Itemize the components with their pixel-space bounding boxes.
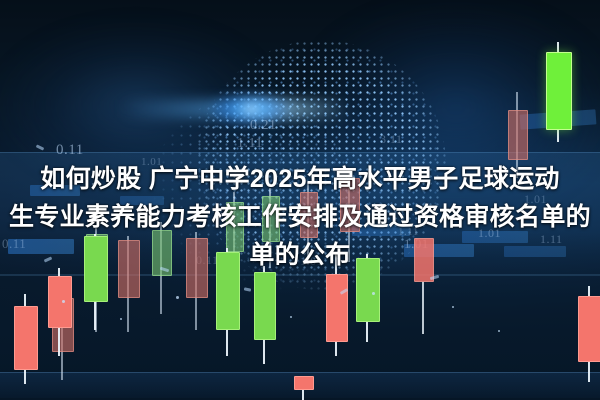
particle	[62, 300, 65, 303]
banner-image: 0.11 0.21 1.11 3.11 1.01 1.01 1.01 1.11 …	[0, 0, 600, 400]
floating-number: 1.11	[237, 136, 263, 152]
floating-number: 0.11	[56, 142, 84, 159]
candle-body	[14, 306, 38, 370]
headline-line-2: 生专业素养能力考核工作安排及通过资格审核名单的	[0, 198, 600, 236]
candlestick	[254, 266, 274, 364]
candle-body	[578, 296, 600, 362]
particle	[176, 296, 179, 299]
candle-body	[294, 376, 314, 390]
candlestick	[14, 294, 36, 384]
particle	[120, 318, 122, 320]
lower-band-line	[0, 372, 600, 373]
candle-body	[546, 52, 572, 130]
candlestick	[546, 42, 570, 142]
particle	[290, 316, 292, 318]
candlestick	[578, 286, 600, 382]
headline-line-3: 单的公布	[0, 236, 600, 274]
particle	[452, 306, 454, 308]
floating-number: 0.21	[250, 118, 277, 134]
candle-body	[48, 276, 72, 328]
particle	[498, 330, 500, 332]
particle	[372, 292, 375, 295]
headline-line-1: 如何炒股 广宁中学2025年高水平男子足球运动	[0, 160, 600, 198]
page-title: 如何炒股 广宁中学2025年高水平男子足球运动 生专业素养能力考核工作安排及通过…	[0, 160, 600, 274]
floating-number: 3.11	[380, 132, 403, 147]
candle-body	[508, 110, 528, 160]
candle-body	[326, 274, 348, 342]
candle-body	[254, 272, 276, 340]
candlestick	[48, 268, 70, 356]
candlestick	[294, 376, 312, 400]
